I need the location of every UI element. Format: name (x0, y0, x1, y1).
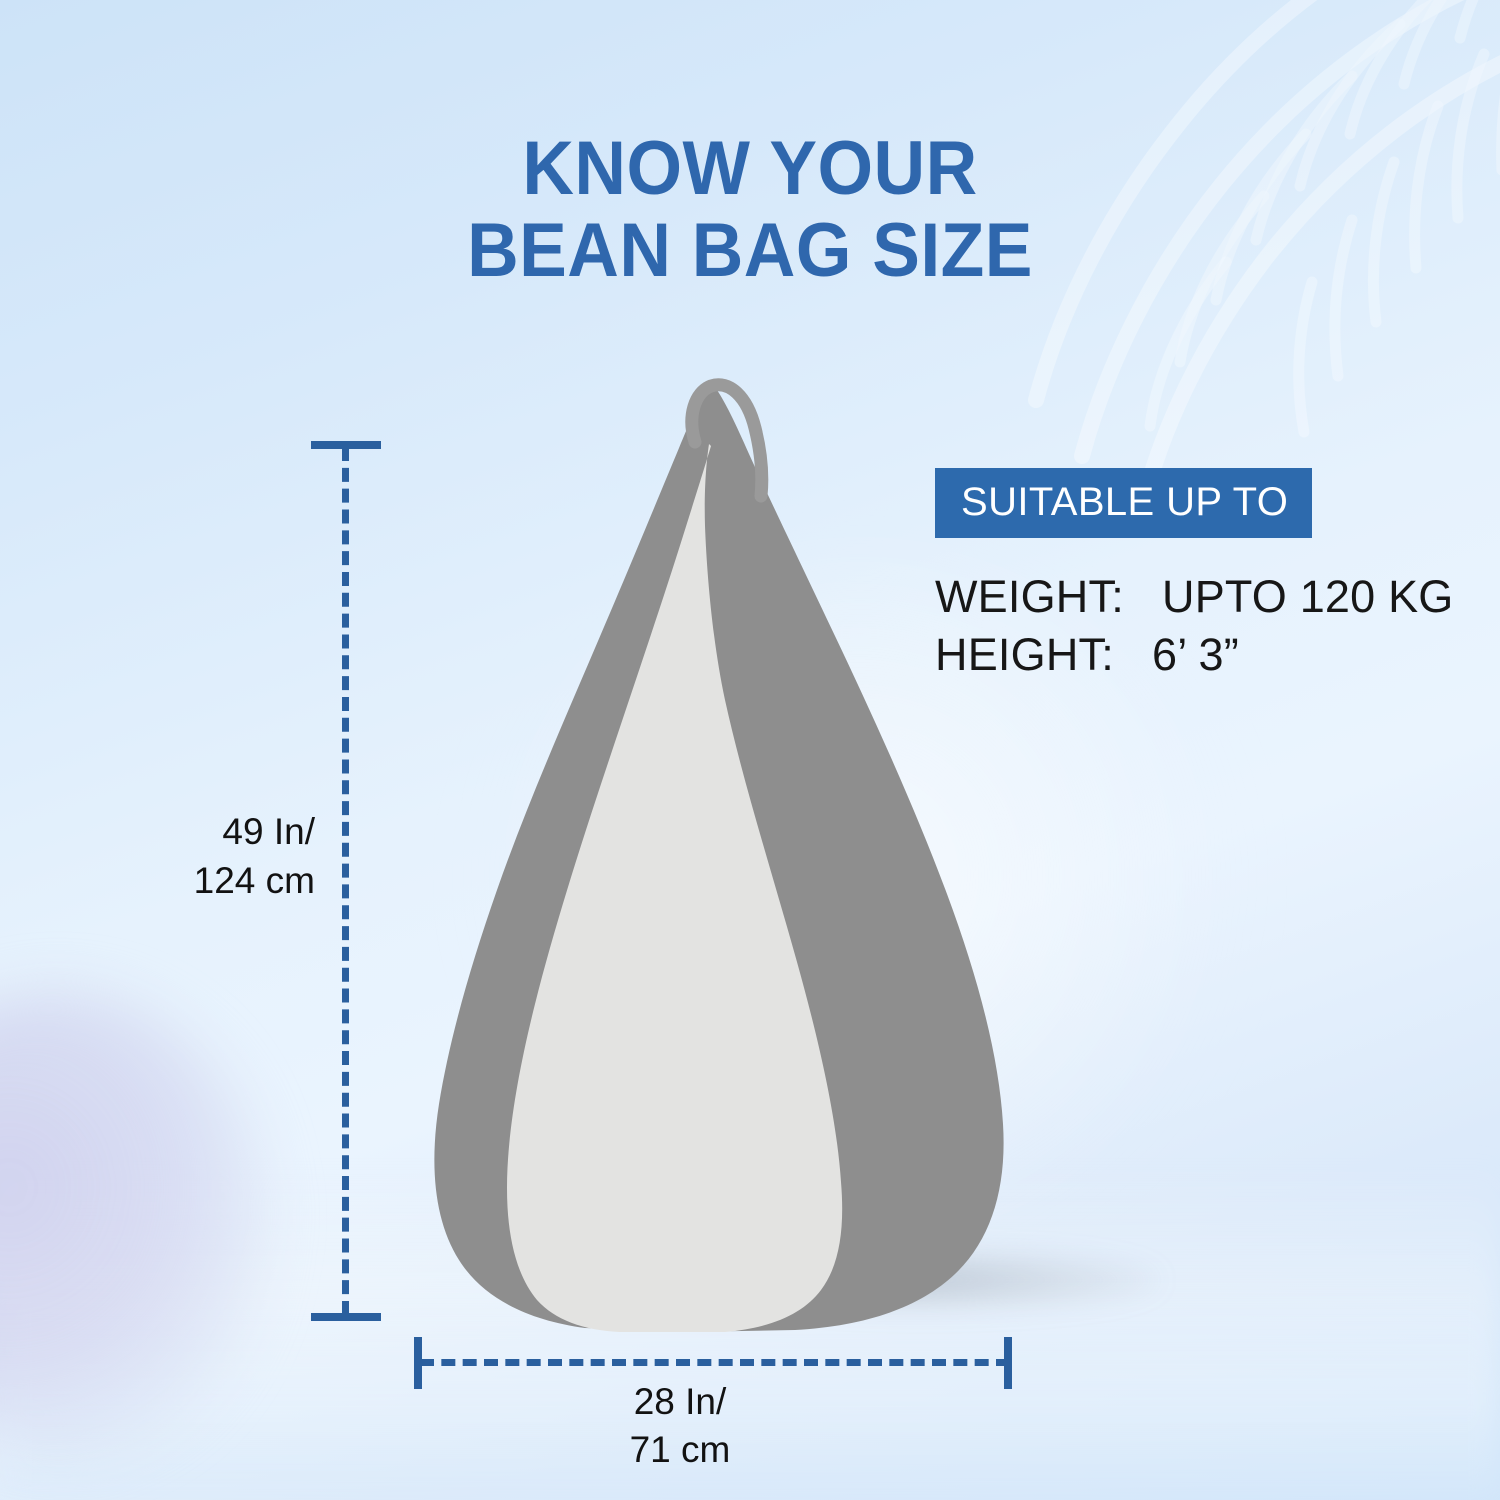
spec-list: WEIGHT: UPTO 120 KG HEIGHT: 6’ 3” (935, 568, 1435, 683)
suitable-up-to-banner: SUITABLE UP TO (935, 468, 1312, 538)
spec-value-weight: UPTO 120 KG (1162, 571, 1454, 622)
page-title: KNOW YOUR BEAN BAG SIZE (45, 128, 1455, 292)
height-label-line-1: 49 In/ (110, 808, 315, 857)
suitability-panel: SUITABLE UP TO WEIGHT: UPTO 120 KG HEIGH… (935, 468, 1435, 683)
spec-row-weight: WEIGHT: UPTO 120 KG (935, 568, 1435, 626)
decorative-blob (0, 990, 270, 1460)
width-dimension-label: 28 In/ 71 cm (460, 1378, 900, 1474)
width-guide-right-cap (1004, 1337, 1012, 1389)
height-label-line-2: 124 cm (110, 857, 315, 906)
page-title-line-2: BEAN BAG SIZE (45, 210, 1455, 292)
spec-label-height: HEIGHT: (935, 629, 1114, 680)
height-guide-dashed-line (342, 447, 349, 1315)
width-guide-dashed-line (420, 1359, 1010, 1366)
width-label-line-2: 71 cm (460, 1426, 900, 1474)
page-title-line-1: KNOW YOUR (45, 128, 1455, 210)
width-label-line-1: 28 In/ (460, 1378, 900, 1426)
spec-row-height: HEIGHT: 6’ 3” (935, 626, 1435, 684)
spec-label-weight: WEIGHT: (935, 571, 1124, 622)
height-dimension-label: 49 In/ 124 cm (110, 808, 315, 906)
infographic-canvas: KNOW YOUR BEAN BAG SIZE SUITABLE UP TO W… (0, 0, 1500, 1500)
spec-value-height: 6’ 3” (1152, 629, 1239, 680)
height-guide-bottom-cap (311, 1313, 381, 1321)
